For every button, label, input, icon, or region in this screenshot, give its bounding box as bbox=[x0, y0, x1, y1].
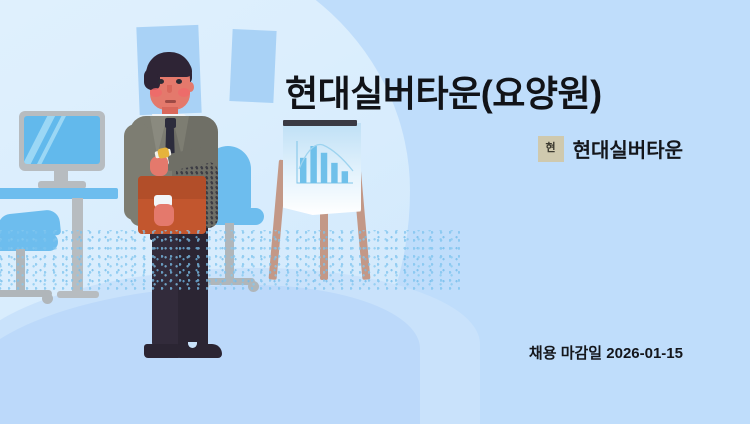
deadline-text: 채용 마감일 2026-01-15 bbox=[529, 342, 683, 363]
page-title: 현대실버타운(요양원) bbox=[285, 76, 602, 112]
cheek-right bbox=[178, 88, 190, 97]
desk-leg bbox=[72, 198, 83, 296]
eyebrow-right bbox=[175, 74, 183, 77]
desk-surface bbox=[0, 188, 118, 199]
office-chair-right-wheel bbox=[248, 281, 259, 292]
office-chair-left-post bbox=[16, 249, 25, 293]
flipchart-bar-chart bbox=[283, 123, 361, 215]
hand-left bbox=[154, 204, 174, 226]
businessman-illustration bbox=[110, 52, 240, 362]
office-chair-left-wheel bbox=[42, 293, 53, 304]
eyebrow-left bbox=[157, 74, 165, 77]
eye-right bbox=[176, 79, 182, 84]
cheek-left bbox=[150, 88, 162, 97]
hair-side bbox=[144, 68, 160, 90]
office-chair-left-seat bbox=[0, 233, 58, 251]
mouth bbox=[165, 100, 176, 103]
job-posting-banner: 현대실버타운(요양원) 현 현대실버타운 채용 마감일 2026-01-15 bbox=[0, 0, 750, 424]
leg-right bbox=[178, 220, 208, 348]
company-row: 현 현대실버타운 bbox=[538, 134, 683, 163]
desk-foot bbox=[57, 291, 99, 298]
company-name: 현대실버타운 bbox=[573, 134, 683, 163]
hand-right bbox=[150, 156, 168, 176]
shoe-right bbox=[176, 344, 222, 358]
nose bbox=[167, 85, 172, 93]
eye-left bbox=[158, 79, 164, 84]
monitor-screen-icon bbox=[24, 116, 100, 164]
leg-left bbox=[152, 220, 180, 346]
company-logo-badge: 현 bbox=[538, 136, 564, 162]
briefcase-flap bbox=[138, 176, 206, 199]
